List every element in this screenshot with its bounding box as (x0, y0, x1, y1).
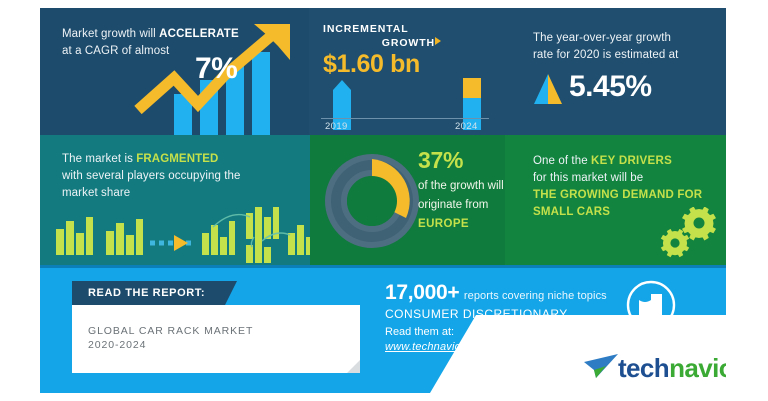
accelerate-value: 7% (195, 52, 237, 86)
incremental-label: INCREMENTAL GROWTH (323, 22, 493, 50)
footer-divider (40, 265, 726, 268)
panel-accelerate: Market growth will ACCELERATE at a CAGR … (40, 8, 309, 135)
page-fold-corner (347, 360, 360, 373)
drivers-line1-b: KEY DRIVERS (591, 155, 672, 167)
fragmented-line1-a: The market is (62, 153, 136, 165)
accelerate-text: Market growth will ACCELERATE at a CAGR … (62, 26, 287, 60)
europe-text: of the growth will originate from EUROPE (418, 177, 510, 234)
reports-count: 17,000+ (385, 281, 459, 304)
report-title-line1: GLOBAL CAR RACK MARKET (88, 325, 253, 337)
report-card[interactable]: GLOBAL CAR RACK MARKET 2020-2024 (72, 305, 360, 373)
accelerate-line2: at a CAGR of almost (62, 45, 169, 57)
panel-incremental-growth: INCREMENTAL GROWTH $1.60 bn 2019 2024 (309, 8, 505, 135)
drivers-line2: for this market will be (533, 172, 643, 184)
row-top: Market growth will ACCELERATE at a CAGR … (40, 8, 726, 135)
city-buildings-dispersion-icon (50, 207, 310, 263)
gears-icon (657, 207, 719, 259)
panel-fragmented: The market is FRAGMENTED with several pl… (40, 135, 310, 265)
incremental-label-line2: GROWTH (382, 37, 435, 49)
drivers-line1-a: One of the (533, 155, 591, 167)
yoy-line2: rate for 2020 is estimated at (533, 49, 678, 61)
triangle-right-icon (435, 37, 441, 45)
yoy-text: The year-over-year growth rate for 2020 … (533, 30, 711, 64)
fragmented-text: The market is FRAGMENTED with several pl… (62, 151, 297, 202)
incremental-year-end: 2024 (455, 121, 478, 132)
accelerate-line1-b: ACCELERATE (159, 28, 239, 40)
donut-chart-icon (322, 151, 422, 251)
incremental-year-start: 2019 (325, 121, 348, 132)
europe-line2: originate from (418, 196, 510, 215)
report-title: GLOBAL CAR RACK MARKET 2020-2024 (88, 324, 338, 352)
yoy-value: 5.45% (569, 70, 652, 104)
europe-percentage: 37% (418, 147, 463, 174)
panel-key-drivers: One of the KEY DRIVERS for this market w… (505, 135, 726, 265)
europe-line1: of the growth will (418, 177, 510, 196)
reports-count-caption: reports covering niche topics (464, 290, 607, 302)
infographic-board: Market growth will ACCELERATE at a CAGR … (40, 8, 726, 393)
incremental-label-line1: INCREMENTAL (323, 23, 409, 35)
fragmented-line1-b: FRAGMENTED (136, 153, 218, 165)
logo-text-navio: navio (669, 353, 726, 383)
chart-baseline (321, 118, 489, 119)
triangle-growth-icon (532, 74, 564, 104)
logo-text-tech: tech (618, 353, 669, 383)
read-the-report-tab: READ THE REPORT: (72, 281, 224, 307)
infographic-root: Market growth will ACCELERATE at a CAGR … (0, 0, 768, 401)
drivers-line4: SMALL CARS (533, 206, 610, 218)
fragmented-line2: with several players occupying the (62, 170, 241, 182)
drivers-line3: THE GROWING DEMAND FOR (533, 189, 702, 201)
panel-europe-share: 37% of the growth will originate from EU… (310, 135, 505, 265)
yoy-line1: The year-over-year growth (533, 32, 671, 44)
panel-yoy-growth: The year-over-year growth rate for 2020 … (505, 8, 726, 135)
technavio-wordmark: technavio (618, 353, 726, 384)
accelerate-line1-a: Market growth will (62, 28, 159, 40)
europe-region: EUROPE (418, 215, 510, 234)
report-title-line2: 2020-2024 (88, 339, 146, 351)
read-the-report-label: READ THE REPORT: (88, 287, 205, 299)
incremental-value: $1.60 bn (323, 50, 420, 79)
row-middle: The market is FRAGMENTED with several pl… (40, 135, 726, 265)
fragmented-line3: market share (62, 187, 130, 199)
reports-count-row: 17,000+ reports covering niche topics (385, 281, 665, 305)
